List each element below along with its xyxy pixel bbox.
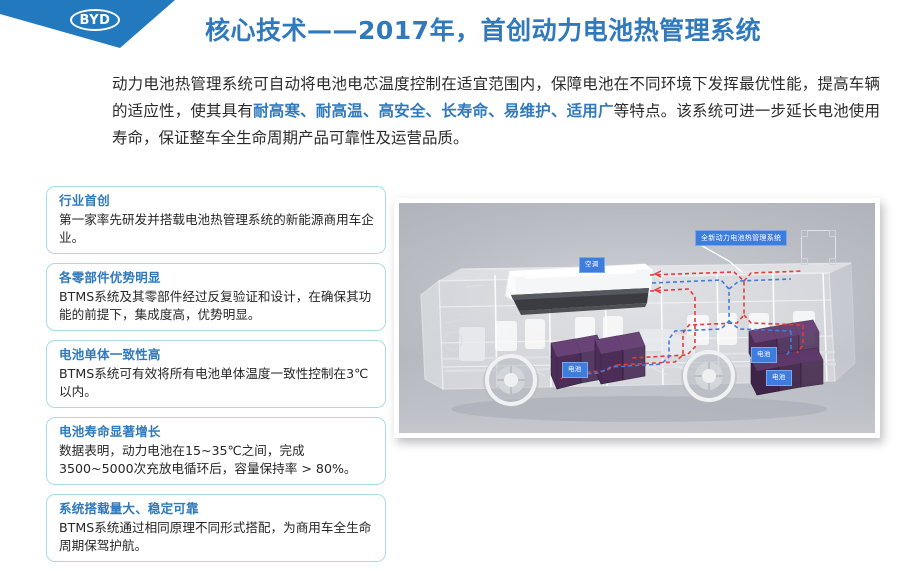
feature-body: BTMS系统通过相同原理不同形式搭配，为商用车全生命周期保驾护航。 — [59, 519, 375, 555]
inset-corner-marker — [801, 230, 808, 237]
list-item: 系统搭载量大、稳定可靠 BTMS系统通过相同原理不同形式搭配，为商用车全生命周期… — [46, 494, 386, 562]
list-item: 电池单体一致性高 BTMS系统可有效将所有电池单体温度一致性控制在3℃以内。 — [46, 340, 386, 408]
wheel-rear — [681, 351, 737, 403]
wheel-front — [483, 355, 539, 407]
slide-header: BYD 核心技术——2017年，首创动力电池热管理系统 — [0, 0, 900, 56]
feature-body: 数据表明，动力电池在15~35℃之间，完成3500~5000次充放电循环后，容量… — [59, 442, 375, 478]
feature-title: 电池单体一致性高 — [59, 346, 375, 364]
inset-corner-marker — [829, 230, 836, 237]
page-title: 核心技术——2017年，首创动力电池热管理系统 — [205, 11, 761, 47]
feature-list: 行业首创 第一家率先研发并搭载电池热管理系统的新能源商用车企业。 各零部件优势明… — [46, 186, 386, 571]
label-btms-system: 全新动力电池热管理系统 — [695, 230, 787, 246]
feature-body: 第一家率先研发并搭载电池热管理系统的新能源商用车企业。 — [59, 211, 375, 247]
label-battery-rear-bottom: 电池 — [766, 370, 792, 386]
inset-corner-marker — [801, 258, 808, 265]
list-item: 行业首创 第一家率先研发并搭载电池热管理系统的新能源商用车企业。 — [46, 186, 386, 254]
label-air-conditioner: 空调 — [579, 257, 605, 273]
list-item: 各零部件优势明显 BTMS系统及其零部件经过反复验证和设计，在确保其功能的前提下… — [46, 263, 386, 331]
feature-title: 各零部件优势明显 — [59, 269, 375, 287]
byd-oval-logo-icon: BYD — [70, 9, 120, 31]
figure-inset-frame — [801, 230, 836, 265]
intro-highlighted-features: 耐高寒、耐高温、高安全、长寿命、易维护、适用广 — [253, 102, 614, 120]
inset-corner-marker — [829, 258, 836, 265]
feature-title: 系统搭载量大、稳定可靠 — [59, 500, 375, 518]
feature-body: BTMS系统可有效将所有电池单体温度一致性控制在3℃以内。 — [59, 365, 375, 401]
intro-paragraph: 动力电池热管理系统可自动将电池电芯温度控制在适宜范围内，保障电池在不同环境下发挥… — [112, 71, 880, 152]
bus-thermal-system-figure: 全新动力电池热管理系统 空调 电池 电池 电池 — [394, 198, 880, 438]
list-item: 电池寿命显著增长 数据表明，动力电池在15~35℃之间，完成3500~5000次… — [46, 417, 386, 485]
label-battery-front: 电池 — [562, 362, 588, 378]
figure-canvas: 全新动力电池热管理系统 空调 电池 电池 电池 — [399, 203, 875, 433]
feature-title: 行业首创 — [59, 192, 375, 210]
label-battery-rear-top: 电池 — [751, 347, 777, 363]
slide-root: BYD 核心技术——2017年，首创动力电池热管理系统 动力电池热管理系统可自动… — [0, 0, 900, 538]
feature-title: 电池寿命显著增长 — [59, 423, 375, 441]
feature-body: BTMS系统及其零部件经过反复验证和设计，在确保其功能的前提下，集成度高，优势明… — [59, 288, 375, 324]
